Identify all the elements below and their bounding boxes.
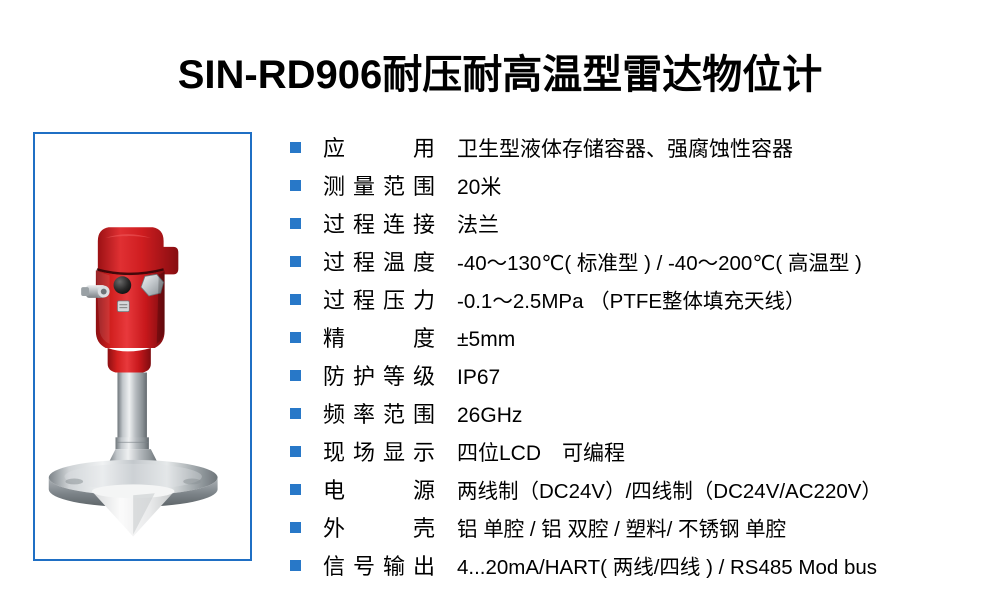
bullet-square-icon [290, 484, 301, 495]
spec-label: 精度 [323, 321, 435, 353]
bullet-square-icon [290, 256, 301, 267]
spec-value: 四位LCD 可编程 [457, 437, 625, 467]
bullet-square-icon [290, 408, 301, 419]
spec-row: 外壳 铝 单腔 / 铝 双腔 / 塑料/ 不锈钢 单腔 [290, 511, 996, 549]
spec-value: 卫生型液体存储容器、强腐蚀性容器 [457, 133, 793, 163]
spec-label: 现场显示 [323, 435, 435, 467]
bullet-square-icon [290, 522, 301, 533]
spec-row: 信号输出 4...20mA/HART( 两线/四线 ) / RS485 Mod … [290, 549, 996, 587]
spec-label: 测量范围 [323, 169, 435, 201]
spec-row: 频率范围 26GHz [290, 397, 996, 435]
spec-label: 频率范围 [323, 397, 435, 429]
bullet-square-icon [290, 446, 301, 457]
bullet-square-icon [290, 370, 301, 381]
spec-label: 过程温度 [323, 245, 435, 277]
bullet-square-icon [290, 218, 301, 229]
spec-label: 信号输出 [323, 549, 435, 581]
bullet-square-icon [290, 294, 301, 305]
spec-value: 法兰 [457, 209, 499, 239]
bullet-square-icon [290, 142, 301, 153]
spec-value: 26GHz [457, 404, 522, 428]
spec-label: 过程连接 [323, 207, 435, 239]
spec-row: 过程压力 -0.1～2.5MPa （PTFE整体填充天线） [290, 283, 996, 321]
spec-value: 两线制（DC24V）/四线制（DC24V/AC220V） [457, 474, 882, 504]
radar-level-transmitter-image [35, 134, 250, 559]
spec-row: 电源 两线制（DC24V）/四线制（DC24V/AC220V） [290, 473, 996, 511]
spec-row: 现场显示 四位LCD 可编程 [290, 435, 996, 473]
bullet-square-icon [290, 560, 301, 571]
spec-label: 防护等级 [323, 359, 435, 391]
spec-value: 20米 [457, 171, 501, 201]
spec-label: 过程压力 [323, 283, 435, 315]
spec-label: 应用 [323, 131, 435, 163]
spec-row: 防护等级 IP67 [290, 359, 996, 397]
spec-row: 应用 卫生型液体存储容器、强腐蚀性容器 [290, 131, 996, 169]
spec-value: 铝 单腔 / 铝 双腔 / 塑料/ 不锈钢 单腔 [457, 512, 786, 542]
bullet-square-icon [290, 180, 301, 191]
spec-row: 过程温度 -40～130℃( 标准型 ) / -40～200℃( 高温型 ) [290, 245, 996, 283]
spec-label: 外壳 [323, 511, 435, 543]
spec-row: 过程连接 法兰 [290, 207, 996, 245]
product-image-panel [33, 132, 252, 561]
spec-value: -0.1～2.5MPa （PTFE整体填充天线） [457, 284, 806, 314]
bullet-square-icon [290, 332, 301, 343]
spec-row: 精度 ±5mm [290, 321, 996, 359]
specification-list: 应用 卫生型液体存储容器、强腐蚀性容器 测量范围 20米 过程连接 法兰 过程温… [290, 131, 996, 587]
page-title: SIN-RD906耐压耐高温型雷达物位计 [0, 42, 1000, 100]
spec-value: 4...20mA/HART( 两线/四线 ) / RS485 Mod bus [457, 550, 877, 580]
spec-value: -40～130℃( 标准型 ) / -40～200℃( 高温型 ) [457, 246, 862, 276]
spec-row: 测量范围 20米 [290, 169, 996, 207]
spec-label: 电源 [323, 473, 435, 505]
spec-value: ±5mm [457, 328, 515, 352]
spec-value: IP67 [457, 366, 500, 390]
